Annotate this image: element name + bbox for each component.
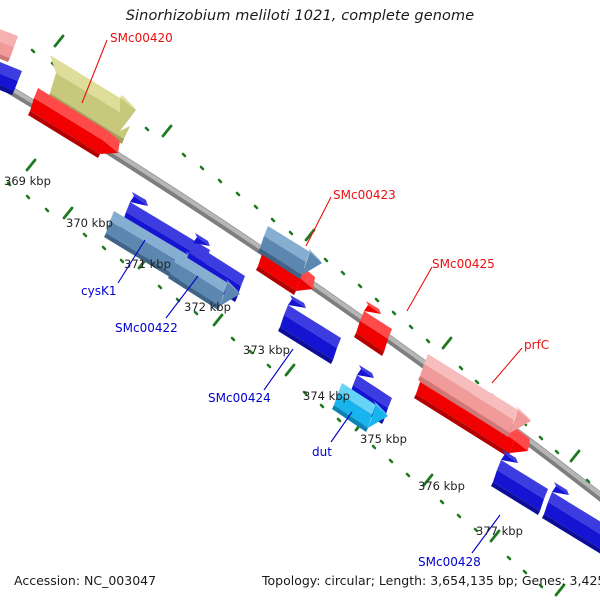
leader-dut — [331, 412, 352, 442]
leader-prfc — [492, 348, 522, 383]
genome-map-viewer[interactable]: Sinorhizobium meliloti 1021, complete ge… — [0, 0, 600, 600]
scale-tick-label: 373 kbp — [243, 345, 290, 357]
gene-bar[interactable] — [0, 18, 18, 62]
gene-bar-smc00425[interactable] — [354, 301, 392, 356]
gene-label-cysk1[interactable]: cysK1 — [81, 285, 116, 297]
scale-tick-label: 376 kbp — [418, 481, 465, 493]
gene-label-prfc[interactable]: prfC — [524, 339, 549, 351]
leader-smc00425 — [407, 267, 432, 311]
scale-tick-label: 371 kbp — [124, 259, 171, 271]
label-leader-lines — [82, 40, 522, 553]
scale-tick-label: 369 kbp — [4, 176, 51, 188]
scale-tick-label: 370 kbp — [66, 218, 113, 230]
scale-tick-label: 375 kbp — [360, 434, 407, 446]
scale-tick-label: 377 kbp — [476, 526, 523, 538]
gene-label-smc00423[interactable]: SMc00423 — [333, 189, 396, 201]
gene-label-smc00420[interactable]: SMc00420 — [110, 32, 173, 44]
gene-label-smc00422[interactable]: SMc00422 — [115, 322, 178, 334]
gene-bar-smc00428-a[interactable] — [491, 450, 548, 515]
leader-smc00423 — [306, 197, 331, 246]
scale-tick-label: 374 kbp — [303, 391, 350, 403]
genome-summary: Topology: circular; Length: 3,654,135 bp… — [262, 573, 600, 588]
gene-label-smc00424[interactable]: SMc00424 — [208, 392, 271, 404]
gene-label-smc00425[interactable]: SMc00425 — [432, 258, 495, 270]
genome-diagram-canvas[interactable] — [0, 0, 600, 600]
gene-label-smc00428[interactable]: SMc00428 — [418, 556, 481, 568]
accession-label: Accession: NC_003047 — [14, 573, 156, 588]
gene-label-dut[interactable]: dut — [312, 446, 332, 458]
scale-tick-label: 372 kbp — [184, 302, 231, 314]
